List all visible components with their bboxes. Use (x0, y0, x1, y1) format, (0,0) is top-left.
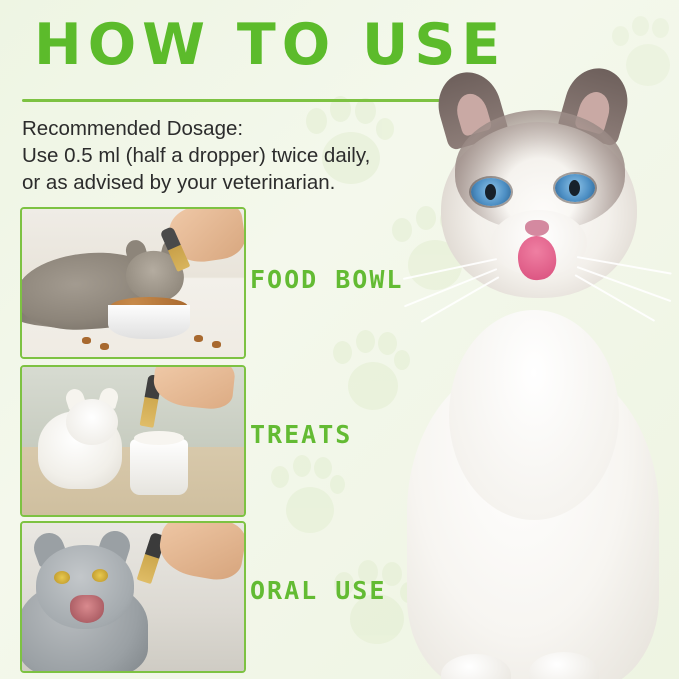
grey-cat-open-mouth-with-dropper (22, 523, 244, 671)
title-divider (22, 99, 444, 102)
step-label-oral-use: ORAL USE (250, 576, 386, 605)
paw-print-icon (330, 330, 410, 422)
white-cat-at-water-fountain-with-dropper (22, 367, 244, 515)
step-label-treats: TREATS (250, 420, 352, 449)
step-photo-oral-use (20, 521, 246, 673)
paw-print-icon (330, 560, 416, 658)
how-to-use-infographic: HOW TO USE Recommended Dosage: Use 0.5 m… (0, 0, 679, 679)
step-label-food-bowl: FOOD BOWL (250, 265, 403, 294)
paw-print-icon (268, 455, 346, 545)
step-photo-food-bowl (20, 207, 246, 359)
dosage-heading: Recommended Dosage: (22, 115, 472, 142)
dosage-text-block: Recommended Dosage: Use 0.5 ml (half a d… (22, 115, 472, 196)
cat-eating-from-food-bowl-with-dropper (22, 209, 244, 357)
paw-print-icon (610, 16, 679, 96)
step-photo-treats (20, 365, 246, 517)
dosage-line-1: Use 0.5 ml (half a dropper) twice daily, (22, 142, 472, 169)
page-title: HOW TO USE (34, 16, 506, 76)
dosage-line-2: or as advised by your veterinarian. (22, 169, 472, 196)
